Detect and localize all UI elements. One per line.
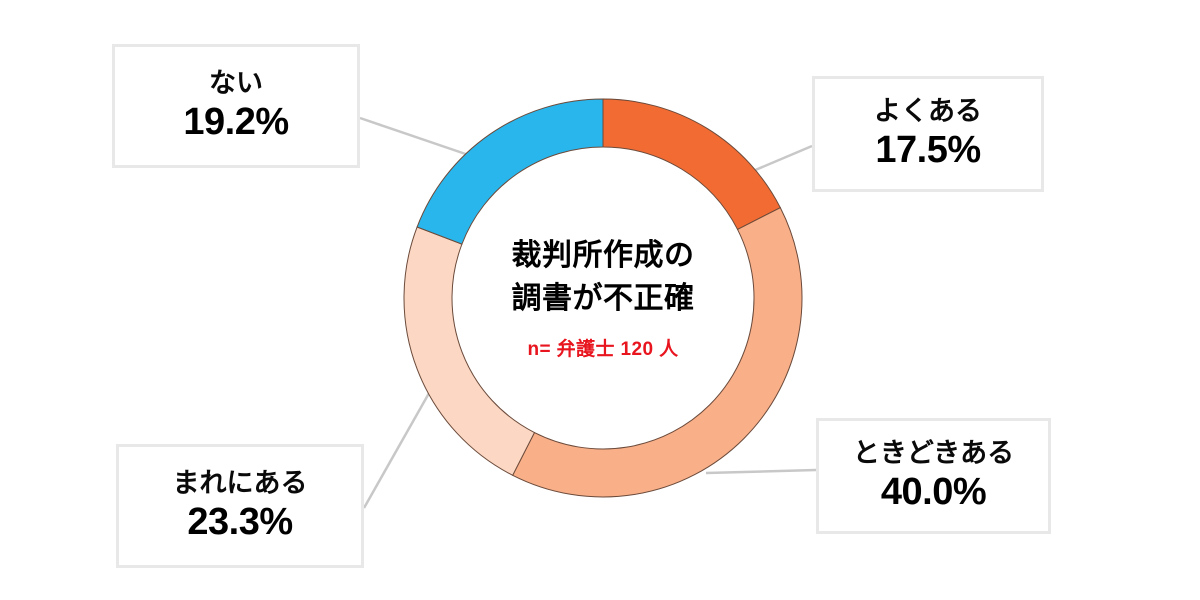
callout-tokidoki-percent: 40.0% — [881, 471, 986, 514]
donut-slices — [404, 99, 802, 497]
donut-slice-1[interactable] — [513, 208, 802, 497]
leader-line-mareni — [364, 379, 437, 508]
donut-slice-3[interactable] — [417, 99, 603, 244]
callout-mareni: まれにある 23.3% — [116, 444, 364, 568]
callout-nai: ない 19.2% — [112, 44, 360, 168]
donut-slice-2[interactable] — [404, 227, 534, 475]
callout-yokuaru-percent: 17.5% — [875, 129, 980, 172]
chart-canvas: 裁判所作成の 調書が不正確 n= 弁護士 120 人 ない 19.2% よくある… — [0, 0, 1200, 600]
callout-tokidoki-category: ときどきある — [853, 438, 1014, 469]
donut-slice-0[interactable] — [603, 99, 780, 229]
callout-nai-category: ない — [209, 68, 263, 99]
callout-mareni-category: まれにある — [173, 468, 308, 499]
callout-tokidoki: ときどきある 40.0% — [816, 418, 1051, 534]
callout-nai-percent: 19.2% — [183, 101, 288, 144]
callout-mareni-percent: 23.3% — [187, 501, 292, 544]
callout-yokuaru-category: よくある — [874, 96, 982, 127]
leader-line-tokidoki — [706, 470, 816, 473]
callout-yokuaru: よくある 17.5% — [812, 76, 1044, 192]
